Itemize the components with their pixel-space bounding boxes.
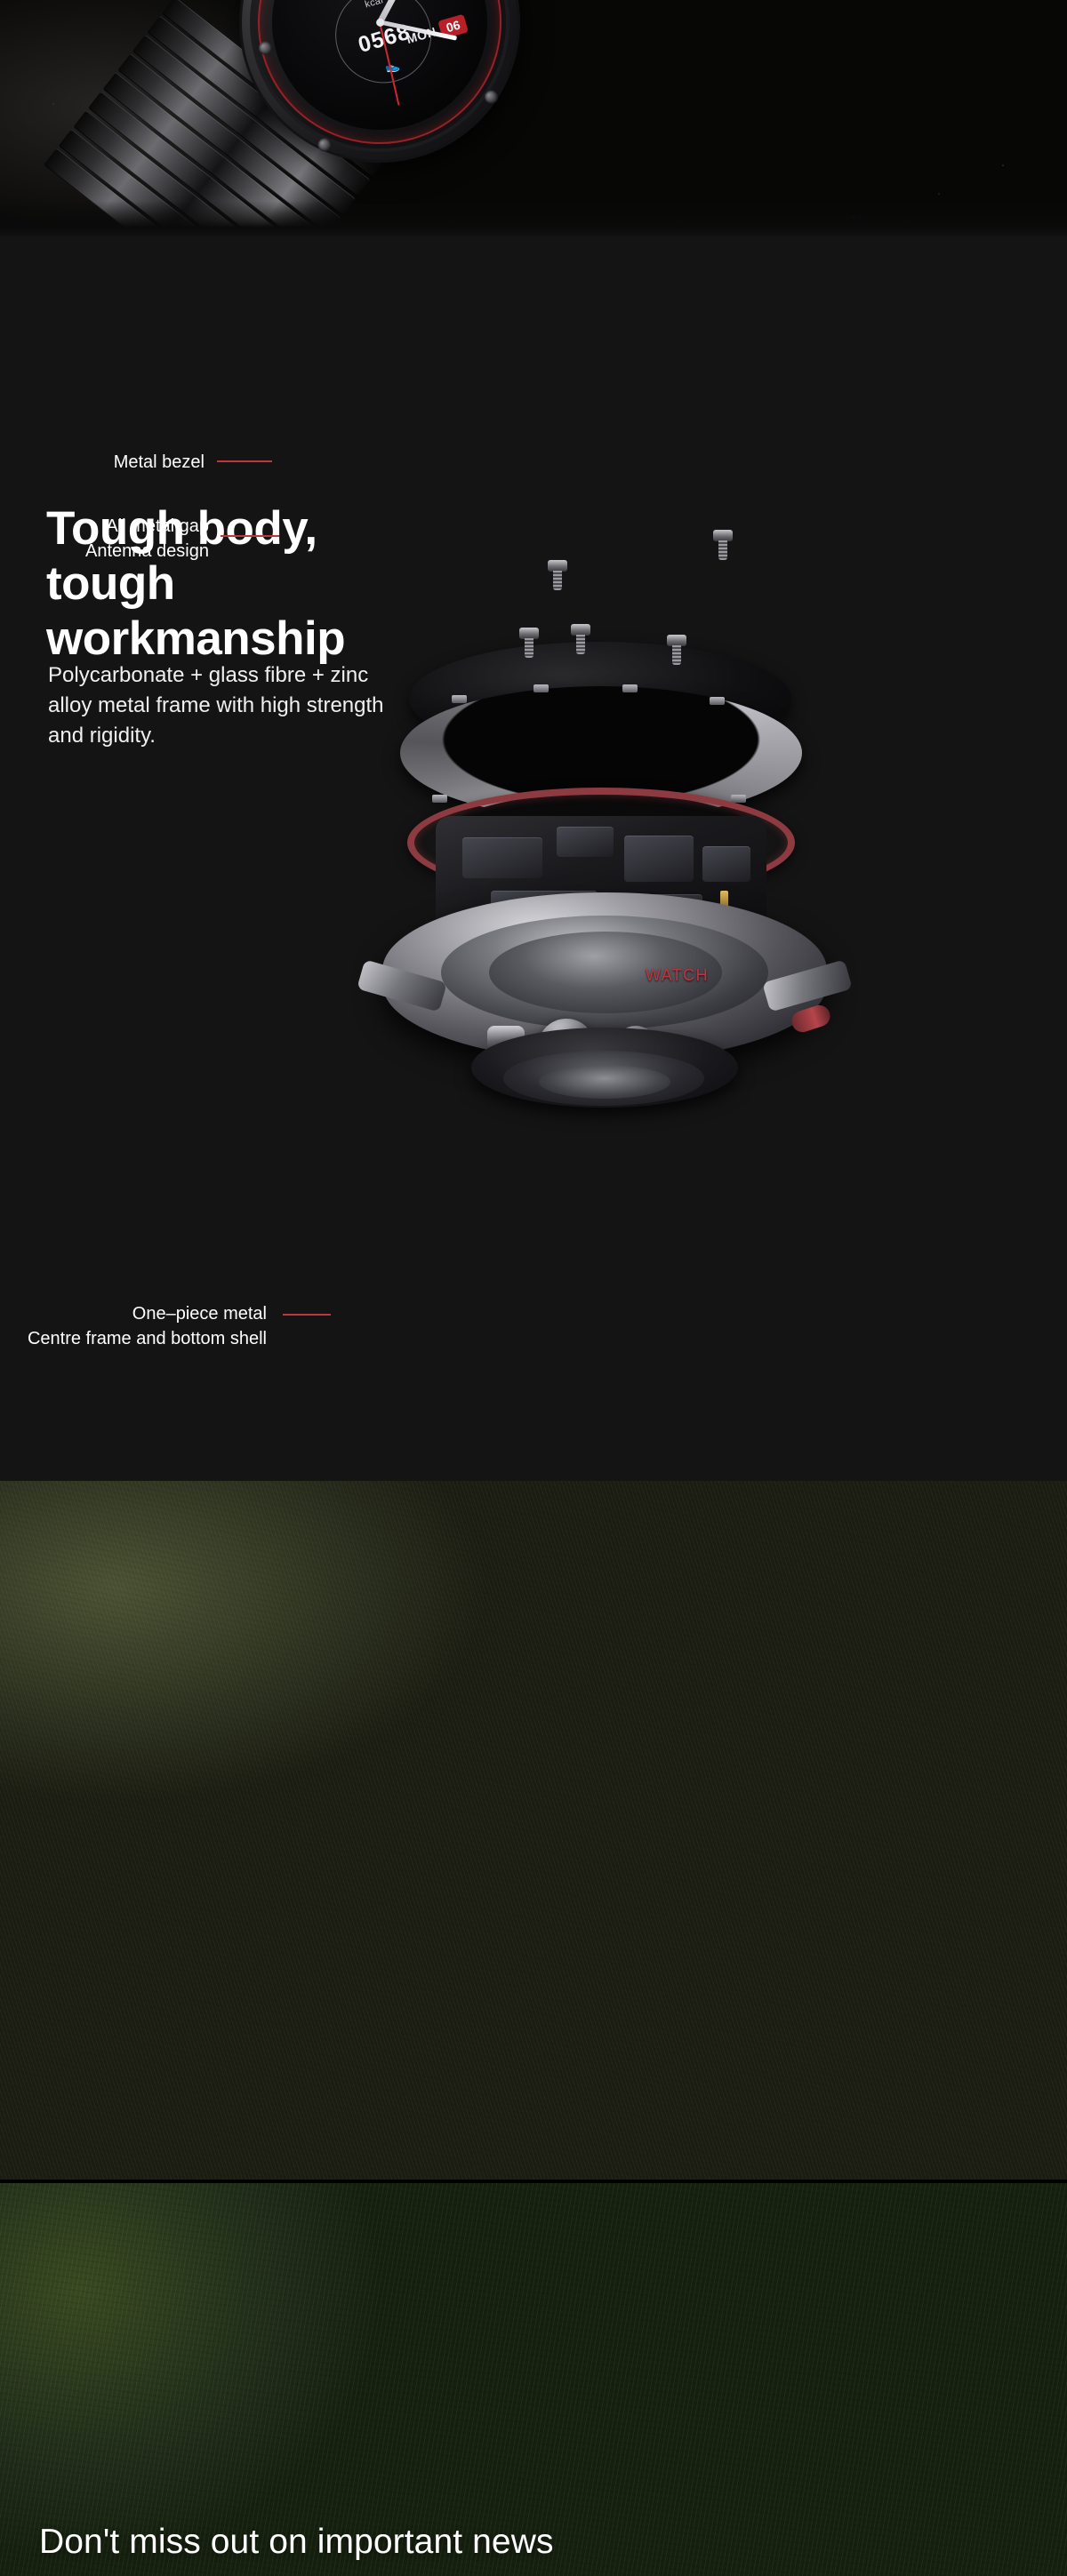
plate-screw-icon (519, 628, 539, 658)
floating-screw-icon (548, 560, 567, 590)
wrist-photo-background (0, 1481, 1067, 2183)
bluetooth-calls-section: Incoming Call... 173 5894 0620 Bluetooth… (0, 1481, 1067, 2183)
news-section (0, 2183, 1067, 2576)
red-accent-tip (789, 1003, 832, 1035)
callout-one-piece-metal: One–piece metal Centre frame and bottom … (9, 1301, 267, 1352)
exploded-view-diagram: WATCH (373, 530, 1049, 1445)
news-photo-background (0, 2183, 1067, 2576)
product-detail-page: kcal 0568 👟 MON 06 Tough body,toughworkm… (0, 0, 1067, 2576)
heading-line-3: workmanship (46, 612, 345, 665)
chassis-lug-left (357, 959, 447, 1012)
watch-wordmark: WATCH (646, 966, 709, 985)
callout-leader-line (221, 535, 279, 537)
callout-leader-line (283, 1314, 331, 1316)
plate-screw-icon (571, 624, 590, 654)
news-heading: Don't miss out on important news (39, 2523, 554, 2562)
callout-antenna-design: All metal gap Antenna design (36, 514, 209, 564)
floating-screw-icon (713, 530, 733, 560)
hero-fade (0, 201, 1067, 236)
plate-screw-icon (667, 635, 686, 665)
tough-body-description: Polycarbonate + glass fibre + zinc alloy… (48, 660, 404, 751)
bottom-shell-inner (539, 1065, 670, 1099)
hero-section: kcal 0568 👟 MON 06 (0, 0, 1067, 236)
heading-line-2: tough (46, 557, 175, 610)
callout-metal-bezel: Metal bezel (53, 450, 205, 475)
chassis-lug-right (762, 959, 853, 1012)
tough-body-section: Tough body,toughworkmanship Polycarbonat… (0, 236, 1067, 1481)
callout-leader-line (217, 460, 272, 462)
